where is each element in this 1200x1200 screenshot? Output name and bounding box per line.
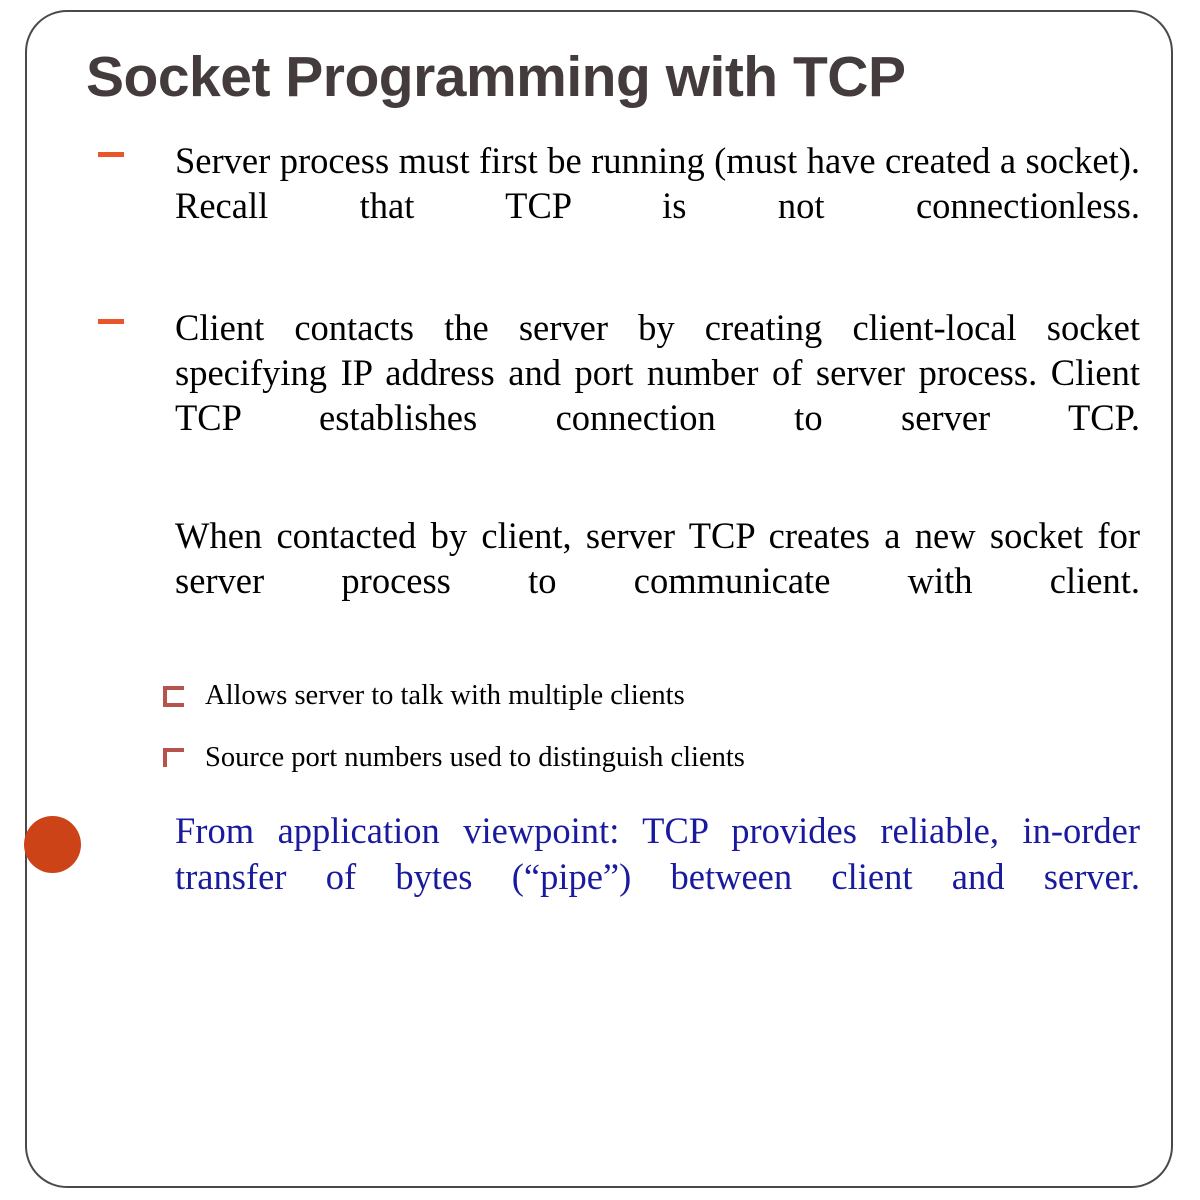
en-dash-marker bbox=[98, 319, 124, 324]
highlight-paragraph-text: From application viewpoint: TCP provides… bbox=[175, 808, 1140, 946]
en-dash-marker bbox=[98, 152, 124, 157]
sub-bullet-text-2: Source port numbers used to distinguish … bbox=[205, 740, 1140, 776]
bullet-item-2: Client contacts the server by creating c… bbox=[0, 305, 1200, 485]
sub-bullet-item-1: Allows server to talk with multiple clie… bbox=[0, 678, 1200, 714]
corner-bracket-marker bbox=[163, 748, 184, 769]
sub-bullet-item-2: Source port numbers used to distinguish … bbox=[0, 740, 1200, 776]
sub-bullet-text-1: Allows server to talk with multiple clie… bbox=[205, 678, 1140, 714]
bullet-text-3: When contacted by client, server TCP cre… bbox=[175, 513, 1140, 648]
bullet-text-2: Client contacts the server by creating c… bbox=[175, 305, 1140, 485]
page-title: Socket Programming with TCP bbox=[86, 44, 1126, 110]
highlight-paragraph: From application viewpoint: TCP provides… bbox=[0, 808, 1200, 946]
bullet-item-3: When contacted by client, server TCP cre… bbox=[0, 513, 1200, 648]
slide-canvas: Socket Programming with TCP Server proce… bbox=[0, 0, 1200, 1200]
slide-body: Server process must first be running (mu… bbox=[0, 138, 1200, 946]
bullet-item-1: Server process must first be running (mu… bbox=[0, 138, 1200, 273]
bullet-text-1: Server process must first be running (mu… bbox=[175, 138, 1140, 273]
left-bracket-marker bbox=[163, 686, 184, 707]
decorative-circle bbox=[24, 816, 81, 873]
